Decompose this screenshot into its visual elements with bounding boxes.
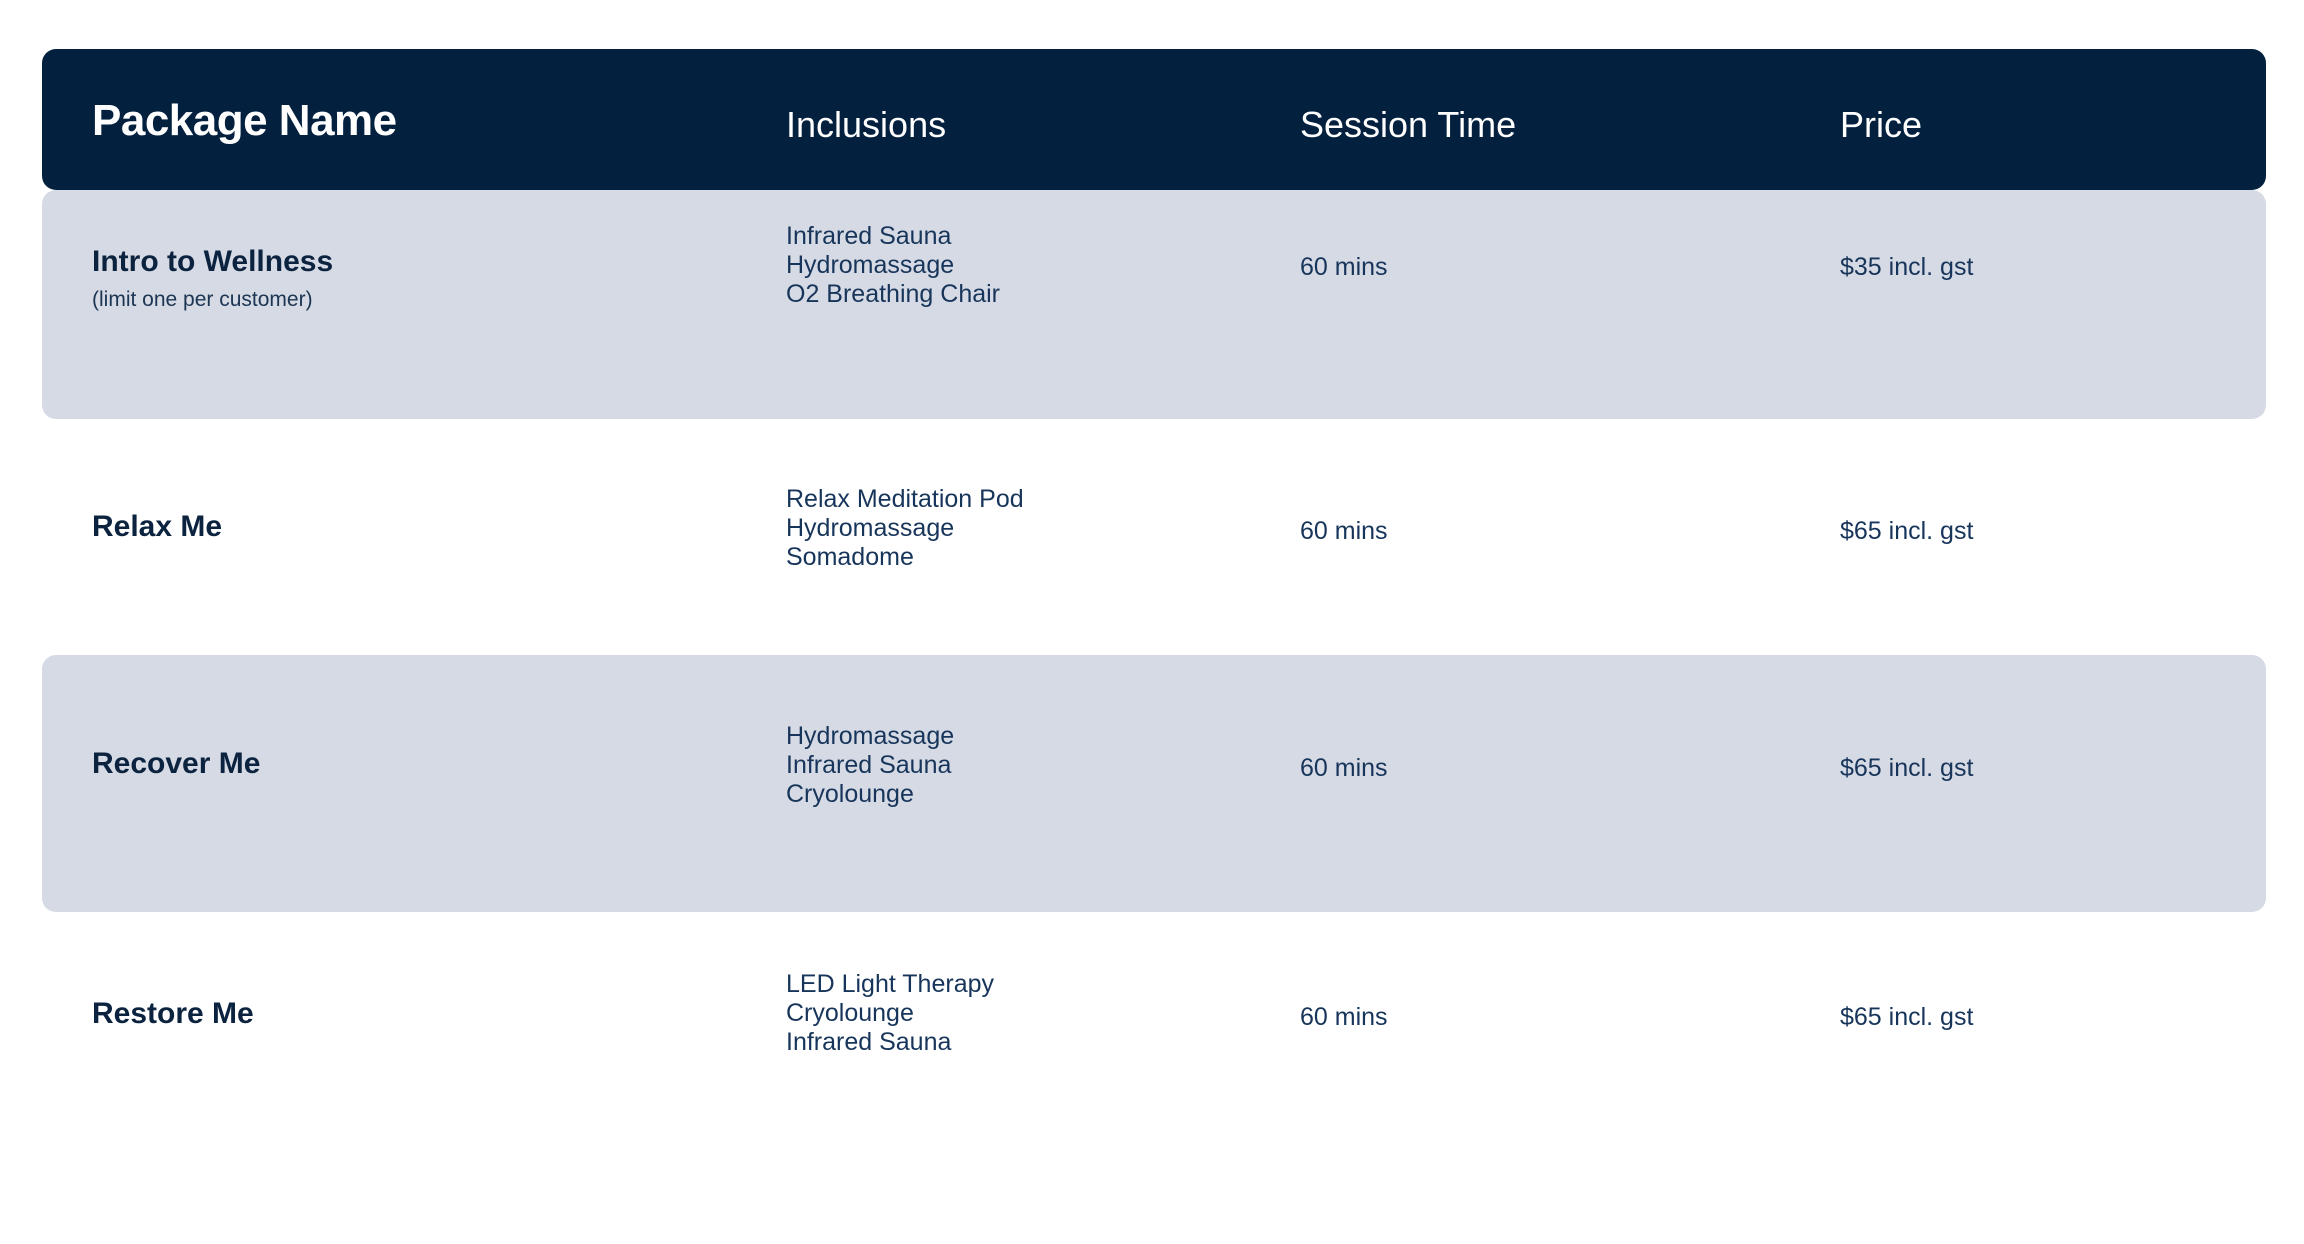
cell-price: $35 incl. gst xyxy=(1840,253,2220,282)
inclusion-item: Infrared Sauna xyxy=(786,1028,1256,1057)
column-header-session-time: Session Time xyxy=(1300,107,1516,143)
cell-package-name: Intro to Wellness (limit one per custome… xyxy=(92,245,752,312)
table-header-row: Package Name Inclusions Session Time Pri… xyxy=(42,49,2266,190)
inclusion-item: Cryolounge xyxy=(786,999,1256,1028)
column-header-package-name: Package Name xyxy=(92,99,397,143)
inclusion-item: Hydromassage xyxy=(786,251,1256,280)
cell-session-time: 60 mins xyxy=(1300,1003,1740,1032)
inclusion-item: Hydromassage xyxy=(786,514,1256,543)
inclusion-item: Cryolounge xyxy=(786,780,1256,809)
inclusion-item: O2 Breathing Chair xyxy=(786,280,1256,309)
cell-price: $65 incl. gst xyxy=(1840,517,2220,546)
package-note-label: (limit one per customer) xyxy=(92,287,752,312)
cell-inclusions: LED Light Therapy Cryolounge Infrared Sa… xyxy=(786,970,1256,1056)
cell-inclusions: Hydromassage Infrared Sauna Cryolounge xyxy=(786,722,1256,808)
inclusion-item: Infrared Sauna xyxy=(786,222,1256,251)
table-row: Recover Me Hydromassage Infrared Sauna C… xyxy=(42,655,2266,912)
cell-price: $65 incl. gst xyxy=(1840,1003,2220,1032)
inclusion-item: Hydromassage xyxy=(786,722,1256,751)
package-name-label: Intro to Wellness xyxy=(92,245,752,278)
column-header-inclusions: Inclusions xyxy=(786,107,946,143)
table-row: Restore Me LED Light Therapy Cryolounge … xyxy=(42,912,2266,1152)
cell-package-name: Restore Me xyxy=(92,997,752,1030)
package-name-label: Restore Me xyxy=(92,997,752,1030)
table-row: Relax Me Relax Meditation Pod Hydromassa… xyxy=(42,419,2266,655)
cell-inclusions: Infrared Sauna Hydromassage O2 Breathing… xyxy=(786,222,1256,308)
package-name-label: Relax Me xyxy=(92,510,752,543)
column-header-price: Price xyxy=(1840,107,1922,143)
inclusion-item: Relax Meditation Pod xyxy=(786,485,1256,514)
cell-package-name: Relax Me xyxy=(92,510,752,543)
package-name-label: Recover Me xyxy=(92,747,752,780)
table-row: Intro to Wellness (limit one per custome… xyxy=(42,190,2266,419)
cell-package-name: Recover Me xyxy=(92,747,752,780)
pricing-table: Package Name Inclusions Session Time Pri… xyxy=(42,49,2266,1152)
inclusion-item: Somadome xyxy=(786,543,1256,572)
cell-session-time: 60 mins xyxy=(1300,253,1740,282)
cell-session-time: 60 mins xyxy=(1300,517,1740,546)
inclusion-item: Infrared Sauna xyxy=(786,751,1256,780)
cell-price: $65 incl. gst xyxy=(1840,754,2220,783)
inclusion-item: LED Light Therapy xyxy=(786,970,1256,999)
cell-session-time: 60 mins xyxy=(1300,754,1740,783)
cell-inclusions: Relax Meditation Pod Hydromassage Somado… xyxy=(786,485,1256,571)
